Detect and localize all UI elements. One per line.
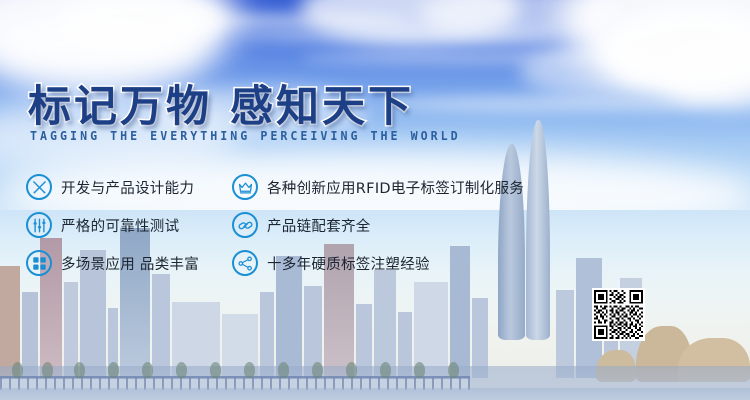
feature-item: 各种创新应用RFID电子标签订制化服务 xyxy=(232,168,524,206)
share-icon xyxy=(232,250,258,276)
feature-item: 多场景应用 品类丰富 xyxy=(26,244,199,282)
qr-code[interactable] xyxy=(592,288,645,341)
feature-column-left: 开发与产品设计能力 严格的可靠性测试 xyxy=(26,168,199,282)
feature-item: 开发与产品设计能力 xyxy=(26,168,199,206)
feature-item: 严格的可靠性测试 xyxy=(26,206,199,244)
grid-icon xyxy=(26,250,52,276)
feature-label: 严格的可靠性测试 xyxy=(61,215,179,236)
feature-item: 十多年硬质标签注塑经验 xyxy=(232,244,524,282)
page-title: 标记万物 感知天下 xyxy=(28,72,414,134)
feature-label: 多场景应用 品类丰富 xyxy=(61,253,199,274)
qr-code-image xyxy=(594,290,643,339)
promo-banner: 标记万物 感知天下 TAGGING THE EVERYTHING PERCEIV… xyxy=(0,0,750,400)
crown-icon xyxy=(232,174,258,200)
waterfront xyxy=(0,388,750,400)
tools-icon xyxy=(26,174,52,200)
feature-label: 十多年硬质标签注塑经验 xyxy=(267,253,430,274)
feature-item: 产品链配套齐全 xyxy=(232,206,524,244)
sliders-icon xyxy=(26,212,52,238)
link-icon xyxy=(232,212,258,238)
feature-label: 各种创新应用RFID电子标签订制化服务 xyxy=(267,177,524,198)
feature-label: 开发与产品设计能力 xyxy=(61,177,194,198)
page-subtitle: TAGGING THE EVERYTHING PERCEIVING THE WO… xyxy=(30,129,461,143)
feature-label: 产品链配套齐全 xyxy=(267,215,371,236)
feature-column-right: 各种创新应用RFID电子标签订制化服务 产品链配套齐全 xyxy=(232,168,524,282)
